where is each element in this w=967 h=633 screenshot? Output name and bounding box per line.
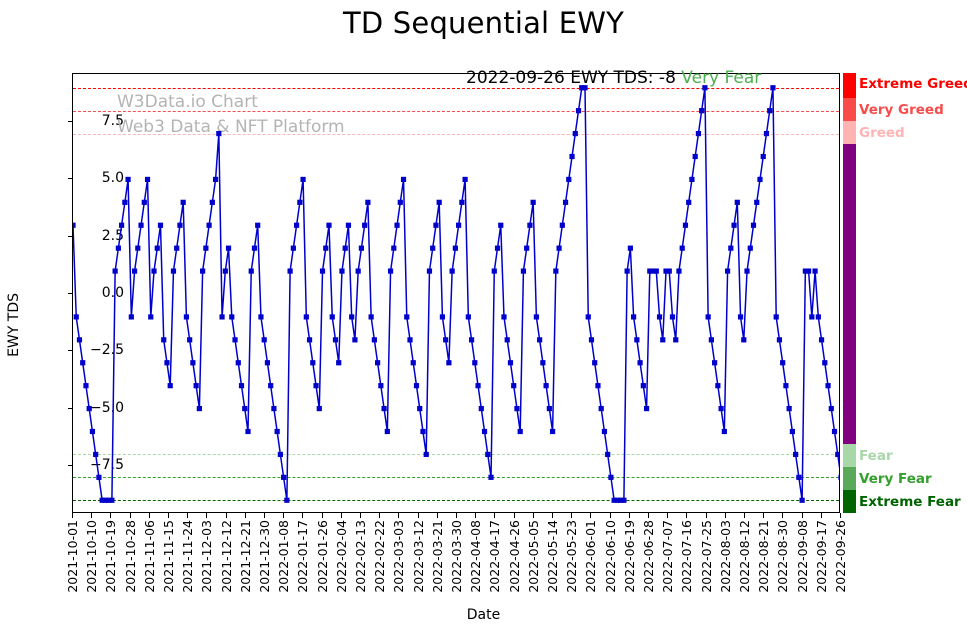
data-point-marker xyxy=(485,452,490,457)
tds-line xyxy=(73,88,839,501)
data-point-marker xyxy=(90,429,95,434)
data-point-marker xyxy=(109,498,114,503)
data-point-marker xyxy=(132,268,137,273)
data-point-marker xyxy=(433,223,438,228)
x-tick-label: 2022-04-17 xyxy=(487,520,502,593)
x-tick-mark xyxy=(360,513,361,518)
data-point-marker xyxy=(268,383,273,388)
data-point-marker xyxy=(203,246,208,251)
data-point-marker xyxy=(323,246,328,251)
data-point-marker xyxy=(492,268,497,273)
x-tick-label: 2022-03-03 xyxy=(391,520,406,593)
data-point-marker xyxy=(488,475,493,480)
colorbar-segment xyxy=(843,121,856,144)
data-point-marker xyxy=(660,337,665,342)
data-point-marker xyxy=(210,200,215,205)
data-point-marker xyxy=(644,406,649,411)
data-point-marker xyxy=(479,406,484,411)
data-point-marker xyxy=(239,383,244,388)
data-point-marker xyxy=(466,314,471,319)
data-point-marker xyxy=(388,268,393,273)
data-point-marker xyxy=(657,314,662,319)
annotation-text: 2022-09-26 EWY TDS: -8 xyxy=(466,68,676,88)
data-point-marker xyxy=(427,268,432,273)
data-point-marker xyxy=(365,200,370,205)
data-point-marker xyxy=(800,498,805,503)
x-tick-mark xyxy=(802,513,803,518)
data-point-marker xyxy=(728,246,733,251)
x-tick-label: 2021-12-30 xyxy=(257,520,272,593)
data-point-marker xyxy=(398,200,403,205)
data-point-marker xyxy=(595,383,600,388)
sentiment-colorbar xyxy=(843,73,856,513)
x-tick-mark xyxy=(456,513,457,518)
data-point-marker xyxy=(764,131,769,136)
x-tick-mark xyxy=(187,513,188,518)
data-point-marker xyxy=(297,200,302,205)
data-point-marker xyxy=(125,177,130,182)
data-point-marker xyxy=(232,337,237,342)
data-point-marker xyxy=(135,246,140,251)
data-point-marker xyxy=(634,337,639,342)
data-point-marker xyxy=(417,406,422,411)
data-point-marker xyxy=(242,406,247,411)
data-point-marker xyxy=(589,337,594,342)
data-point-marker xyxy=(514,406,519,411)
x-tick-label: 2021-10-28 xyxy=(123,520,138,593)
data-point-marker xyxy=(602,429,607,434)
x-tick-label: 2022-06-01 xyxy=(583,520,598,593)
data-point-marker xyxy=(174,246,179,251)
x-tick-label: 2022-02-13 xyxy=(353,520,368,593)
page-title: TD Sequential EWY xyxy=(0,6,967,40)
x-tick-mark xyxy=(533,513,534,518)
data-point-marker xyxy=(369,314,374,319)
data-point-marker xyxy=(472,360,477,365)
data-point-marker xyxy=(352,337,357,342)
data-point-marker xyxy=(271,406,276,411)
data-point-marker xyxy=(637,360,642,365)
data-point-marker xyxy=(437,200,442,205)
data-point-marker xyxy=(501,314,506,319)
data-point-marker xyxy=(709,337,714,342)
plot-clip: W3Data.io Chart Web3 Data & NFT Platform xyxy=(73,74,839,512)
x-tick-mark xyxy=(648,513,649,518)
x-tick-mark xyxy=(206,513,207,518)
x-tick-mark xyxy=(226,513,227,518)
data-point-marker xyxy=(313,383,318,388)
x-tick-label: 2022-07-07 xyxy=(660,520,675,593)
x-tick-label: 2022-08-21 xyxy=(756,520,771,593)
data-point-marker xyxy=(151,268,156,273)
data-point-marker xyxy=(689,177,694,182)
data-point-marker xyxy=(822,360,827,365)
data-point-marker xyxy=(304,314,309,319)
data-point-marker xyxy=(177,223,182,228)
data-point-marker xyxy=(540,360,545,365)
data-point-marker xyxy=(333,337,338,342)
data-point-marker xyxy=(424,452,429,457)
x-tick-label: 2022-07-16 xyxy=(679,520,694,593)
data-point-marker xyxy=(288,268,293,273)
x-tick-mark xyxy=(552,513,553,518)
x-tick-mark xyxy=(418,513,419,518)
data-point-marker xyxy=(744,268,749,273)
data-point-marker xyxy=(281,475,286,480)
data-point-marker xyxy=(168,383,173,388)
data-point-marker xyxy=(96,475,101,480)
x-tick-mark xyxy=(782,513,783,518)
x-tick-label: 2022-09-08 xyxy=(795,520,810,593)
data-point-marker xyxy=(495,246,500,251)
data-point-marker xyxy=(667,268,672,273)
data-point-marker xyxy=(129,314,134,319)
data-point-marker xyxy=(339,268,344,273)
x-tick-label: 2022-01-17 xyxy=(295,520,310,593)
x-tick-label: 2021-10-19 xyxy=(103,520,118,593)
data-point-marker xyxy=(741,337,746,342)
data-point-marker xyxy=(621,498,626,503)
data-point-marker xyxy=(343,246,348,251)
data-point-marker xyxy=(356,268,361,273)
current-value-annotation: 2022-09-26 EWY TDS: -8 Very Fear xyxy=(466,68,761,88)
data-point-marker xyxy=(83,383,88,388)
x-tick-label: 2022-06-19 xyxy=(622,520,637,593)
data-point-marker xyxy=(310,360,315,365)
x-tick-mark xyxy=(686,513,687,518)
data-point-marker xyxy=(560,223,565,228)
colorbar-segment xyxy=(843,144,856,444)
data-point-marker xyxy=(751,223,756,228)
x-tick-label: 2021-11-24 xyxy=(180,520,195,593)
data-point-marker xyxy=(780,360,785,365)
data-point-marker xyxy=(547,406,552,411)
data-point-marker xyxy=(249,268,254,273)
data-point-marker xyxy=(715,383,720,388)
x-tick-label: 2021-12-03 xyxy=(199,520,214,593)
data-point-marker xyxy=(74,314,79,319)
x-tick-label: 2022-08-03 xyxy=(718,520,733,593)
data-point-marker xyxy=(683,223,688,228)
data-point-marker xyxy=(829,406,834,411)
data-point-marker xyxy=(194,383,199,388)
data-point-marker xyxy=(171,268,176,273)
data-point-marker xyxy=(190,360,195,365)
data-point-marker xyxy=(148,314,153,319)
data-point-marker xyxy=(294,223,299,228)
x-tick-mark xyxy=(110,513,111,518)
data-point-marker xyxy=(819,337,824,342)
x-tick-mark xyxy=(494,513,495,518)
data-point-marker xyxy=(599,406,604,411)
data-point-marker xyxy=(164,360,169,365)
data-point-marker xyxy=(569,154,574,159)
colorbar-segment xyxy=(843,490,856,513)
data-point-marker xyxy=(592,360,597,365)
data-point-marker xyxy=(706,314,711,319)
data-point-marker xyxy=(738,314,743,319)
data-point-marker xyxy=(576,108,581,113)
data-point-marker xyxy=(213,177,218,182)
data-point-marker xyxy=(527,223,532,228)
data-point-marker xyxy=(586,314,591,319)
data-point-marker xyxy=(362,223,367,228)
data-point-marker xyxy=(414,383,419,388)
data-point-marker xyxy=(631,314,636,319)
x-tick-label: 2021-11-15 xyxy=(161,520,176,593)
x-tick-label: 2022-05-14 xyxy=(545,520,560,593)
data-point-marker xyxy=(255,223,260,228)
data-point-marker xyxy=(291,246,296,251)
data-point-marker xyxy=(200,268,205,273)
data-point-marker xyxy=(696,131,701,136)
data-point-marker xyxy=(284,498,289,503)
data-point-marker xyxy=(835,452,839,457)
x-tick-mark xyxy=(514,513,515,518)
data-point-marker xyxy=(469,337,474,342)
data-point-marker xyxy=(346,223,351,228)
data-point-marker xyxy=(783,383,788,388)
colorbar-segment xyxy=(843,98,856,121)
y-axis-label: EWY TDS xyxy=(6,293,22,357)
data-point-marker xyxy=(453,246,458,251)
data-point-marker xyxy=(307,337,312,342)
data-point-marker xyxy=(181,200,186,205)
x-tick-mark xyxy=(475,513,476,518)
data-point-marker xyxy=(216,131,221,136)
data-point-marker xyxy=(411,360,416,365)
x-tick-mark xyxy=(590,513,591,518)
data-point-marker xyxy=(605,452,610,457)
x-tick-mark xyxy=(149,513,150,518)
data-point-marker xyxy=(138,223,143,228)
data-point-marker xyxy=(385,429,390,434)
data-point-marker xyxy=(563,200,568,205)
data-point-marker xyxy=(320,268,325,273)
x-tick-mark xyxy=(283,513,284,518)
data-point-marker xyxy=(767,108,772,113)
data-point-marker xyxy=(757,177,762,182)
x-tick-label: 2022-07-25 xyxy=(699,520,714,593)
data-point-marker xyxy=(761,154,766,159)
data-point-marker xyxy=(378,383,383,388)
x-tick-label: 2022-09-26 xyxy=(833,520,848,593)
x-tick-mark xyxy=(302,513,303,518)
data-point-marker xyxy=(770,85,775,90)
data-point-marker xyxy=(161,337,166,342)
x-tick-mark xyxy=(763,513,764,518)
x-tick-mark xyxy=(245,513,246,518)
data-point-marker xyxy=(207,223,212,228)
data-point-marker xyxy=(145,177,150,182)
data-point-marker xyxy=(544,383,549,388)
x-tick-label: 2022-02-22 xyxy=(372,520,387,593)
x-tick-mark xyxy=(667,513,668,518)
data-point-marker xyxy=(394,223,399,228)
data-point-marker xyxy=(401,177,406,182)
data-point-marker xyxy=(511,383,516,388)
data-point-marker xyxy=(197,406,202,411)
data-point-marker xyxy=(278,452,283,457)
data-point-marker xyxy=(725,268,730,273)
x-tick-mark xyxy=(571,513,572,518)
data-point-marker xyxy=(754,200,759,205)
data-point-marker xyxy=(641,383,646,388)
data-point-marker xyxy=(777,337,782,342)
data-point-marker xyxy=(450,268,455,273)
data-point-marker xyxy=(336,360,341,365)
data-point-marker xyxy=(456,223,461,228)
annotation-mood: Very Fear xyxy=(681,68,761,88)
x-tick-label: 2022-06-10 xyxy=(603,520,618,593)
data-point-marker xyxy=(505,337,510,342)
data-point-marker xyxy=(119,223,124,228)
x-tick-label: 2022-05-23 xyxy=(564,520,579,593)
x-tick-mark xyxy=(398,513,399,518)
x-tick-label: 2021-10-01 xyxy=(65,520,80,593)
data-point-marker xyxy=(693,154,698,159)
x-tick-mark xyxy=(437,513,438,518)
x-tick-mark xyxy=(821,513,822,518)
data-point-marker xyxy=(330,314,335,319)
data-point-marker xyxy=(252,246,257,251)
data-point-marker xyxy=(116,246,121,251)
data-point-marker xyxy=(430,246,435,251)
data-point-marker xyxy=(443,337,448,342)
data-point-marker xyxy=(498,223,503,228)
data-point-marker xyxy=(790,429,795,434)
data-point-marker xyxy=(809,314,814,319)
data-point-marker xyxy=(359,246,364,251)
x-tick-label: 2021-12-21 xyxy=(238,520,253,593)
data-point-marker xyxy=(748,246,753,251)
data-point-marker xyxy=(793,452,798,457)
data-point-marker xyxy=(229,314,234,319)
x-tick-label: 2022-06-28 xyxy=(641,520,656,593)
data-point-marker xyxy=(158,223,163,228)
data-point-marker xyxy=(556,246,561,251)
x-tick-label: 2022-01-26 xyxy=(315,520,330,593)
colorbar-segment xyxy=(843,467,856,490)
data-point-marker xyxy=(381,406,386,411)
data-point-marker xyxy=(719,406,724,411)
x-tick-label: 2022-02-04 xyxy=(334,520,349,593)
data-point-marker xyxy=(73,223,76,228)
data-point-marker xyxy=(122,200,127,205)
x-tick-label: 2022-03-30 xyxy=(449,520,464,593)
x-tick-mark xyxy=(744,513,745,518)
x-axis-label: Date xyxy=(0,607,967,623)
data-point-marker xyxy=(77,337,82,342)
data-point-marker xyxy=(265,360,270,365)
data-point-marker xyxy=(446,360,451,365)
x-tick-mark xyxy=(706,513,707,518)
data-point-marker xyxy=(735,200,740,205)
data-point-marker xyxy=(155,246,160,251)
colorbar-label: Very Fear xyxy=(859,471,932,487)
data-point-marker xyxy=(774,314,779,319)
data-point-marker xyxy=(531,200,536,205)
data-point-marker xyxy=(676,268,681,273)
data-point-marker xyxy=(537,337,542,342)
x-tick-label: 2021-12-12 xyxy=(219,520,234,593)
x-tick-mark xyxy=(72,513,73,518)
colorbar-label: Fear xyxy=(859,448,893,464)
data-point-marker xyxy=(236,360,241,365)
data-point-marker xyxy=(654,268,659,273)
data-point-marker xyxy=(300,177,305,182)
plot-area: W3Data.io Chart Web3 Data & NFT Platform xyxy=(72,73,840,513)
data-point-marker xyxy=(113,268,118,273)
data-point-marker xyxy=(550,429,555,434)
data-point-marker xyxy=(93,452,98,457)
x-tick-label: 2021-11-06 xyxy=(142,520,157,593)
data-point-marker xyxy=(699,108,704,113)
data-point-marker xyxy=(317,406,322,411)
x-tick-mark xyxy=(264,513,265,518)
data-point-marker xyxy=(482,429,487,434)
data-point-marker xyxy=(187,337,192,342)
data-point-marker xyxy=(796,475,801,480)
colorbar-label: Greed xyxy=(859,125,905,141)
data-point-marker xyxy=(825,383,830,388)
data-point-marker xyxy=(518,429,523,434)
data-point-marker xyxy=(566,177,571,182)
x-tick-label: 2022-04-08 xyxy=(468,520,483,593)
tds-series xyxy=(73,74,839,512)
data-point-marker xyxy=(475,383,480,388)
data-point-marker xyxy=(680,246,685,251)
colorbar-segment xyxy=(843,73,856,98)
data-point-marker xyxy=(521,268,526,273)
data-point-marker xyxy=(404,314,409,319)
data-point-marker xyxy=(463,177,468,182)
data-point-marker xyxy=(440,314,445,319)
colorbar-label: Extreme Fear xyxy=(859,494,961,510)
x-tick-label: 2022-03-12 xyxy=(411,520,426,593)
data-point-marker xyxy=(553,268,558,273)
colorbar-label: Very Greed xyxy=(859,102,944,118)
x-tick-label: 2022-09-17 xyxy=(814,520,829,593)
colorbar-segment xyxy=(843,444,856,467)
data-point-marker xyxy=(812,268,817,273)
x-tick-label: 2022-05-05 xyxy=(526,520,541,593)
data-point-marker xyxy=(80,360,85,365)
data-point-marker xyxy=(722,429,727,434)
x-tick-label: 2022-01-08 xyxy=(276,520,291,593)
data-point-marker xyxy=(326,223,331,228)
x-tick-mark xyxy=(91,513,92,518)
x-tick-mark xyxy=(610,513,611,518)
data-point-marker xyxy=(391,246,396,251)
x-tick-mark xyxy=(379,513,380,518)
data-point-marker xyxy=(245,429,250,434)
x-tick-mark xyxy=(322,513,323,518)
data-point-marker xyxy=(275,429,280,434)
x-tick-label: 2022-08-12 xyxy=(737,520,752,593)
x-tick-mark xyxy=(840,513,841,518)
x-tick-mark xyxy=(341,513,342,518)
data-point-marker xyxy=(838,475,839,480)
data-point-marker xyxy=(219,314,224,319)
data-point-marker xyxy=(686,200,691,205)
data-point-marker xyxy=(142,200,147,205)
data-point-marker xyxy=(459,200,464,205)
data-point-marker xyxy=(712,360,717,365)
data-point-marker xyxy=(508,360,513,365)
data-point-marker xyxy=(184,314,189,319)
data-point-marker xyxy=(372,337,377,342)
